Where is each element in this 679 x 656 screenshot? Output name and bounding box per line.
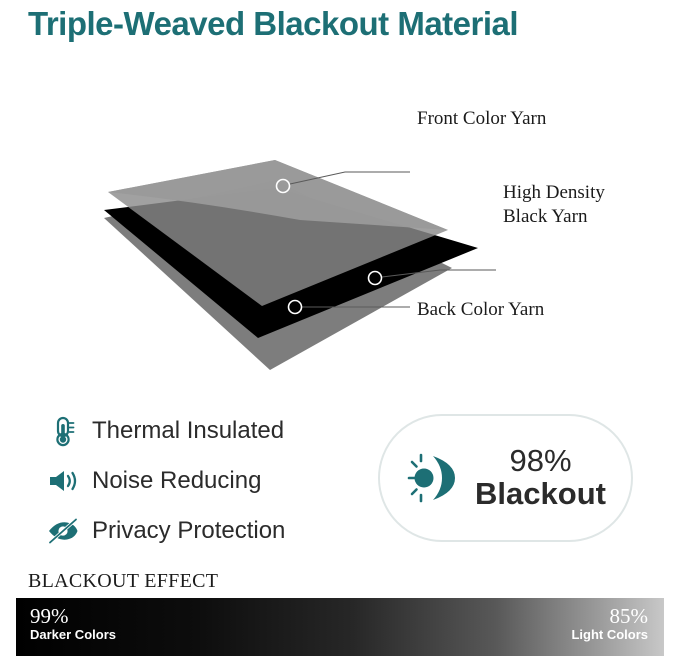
blackout-effect-right: 85% Light Colors <box>571 604 648 643</box>
speaker-sound-icon <box>46 464 80 498</box>
blackout-percent: 98% <box>509 443 571 478</box>
sun-blocked-icon <box>402 447 464 509</box>
feature-item-privacy: Privacy Protection <box>46 508 376 554</box>
feature-item-thermal: Thermal Insulated <box>46 408 376 454</box>
feature-label-privacy: Privacy Protection <box>92 517 285 545</box>
blackout-effect-left-caption: Darker Colors <box>30 628 116 643</box>
blackout-effect-right-caption: Light Colors <box>571 628 648 643</box>
feature-label-thermal: Thermal Insulated <box>92 417 284 445</box>
blackout-word: Blackout <box>475 476 606 511</box>
page-title: Triple-Weaved Blackout Material <box>28 5 518 43</box>
blackout-effect-gradient-bar: 99% Darker Colors 85% Light Colors <box>16 598 664 656</box>
thermometer-icon <box>46 414 80 448</box>
blackout-effect-left-percent: 99% <box>30 604 116 628</box>
fabric-layers-diagram: Front Color Yarn High Density Black Yarn… <box>0 70 679 370</box>
eye-off-icon <box>46 514 80 548</box>
blackout-effect-right-percent: 85% <box>571 604 648 628</box>
feature-label-noise: Noise Reducing <box>92 467 261 495</box>
blackout-badge: 98% Blackout <box>378 414 633 542</box>
feature-item-noise: Noise Reducing <box>46 458 376 504</box>
blackout-badge-text: 98% Blackout <box>464 445 631 510</box>
callout-label-middle-line2: Black Yarn <box>503 205 605 229</box>
blackout-effect-title: BLACKOUT EFFECT <box>28 570 218 593</box>
blackout-effect-left: 99% Darker Colors <box>30 604 116 643</box>
feature-list: Thermal Insulated Noise Reducing Privacy… <box>46 408 376 558</box>
callout-label-front: Front Color Yarn <box>417 107 546 131</box>
callout-label-back: Back Color Yarn <box>417 298 544 322</box>
callout-label-middle-line1: High Density <box>503 181 605 205</box>
callout-label-middle: High Density Black Yarn <box>503 181 605 229</box>
